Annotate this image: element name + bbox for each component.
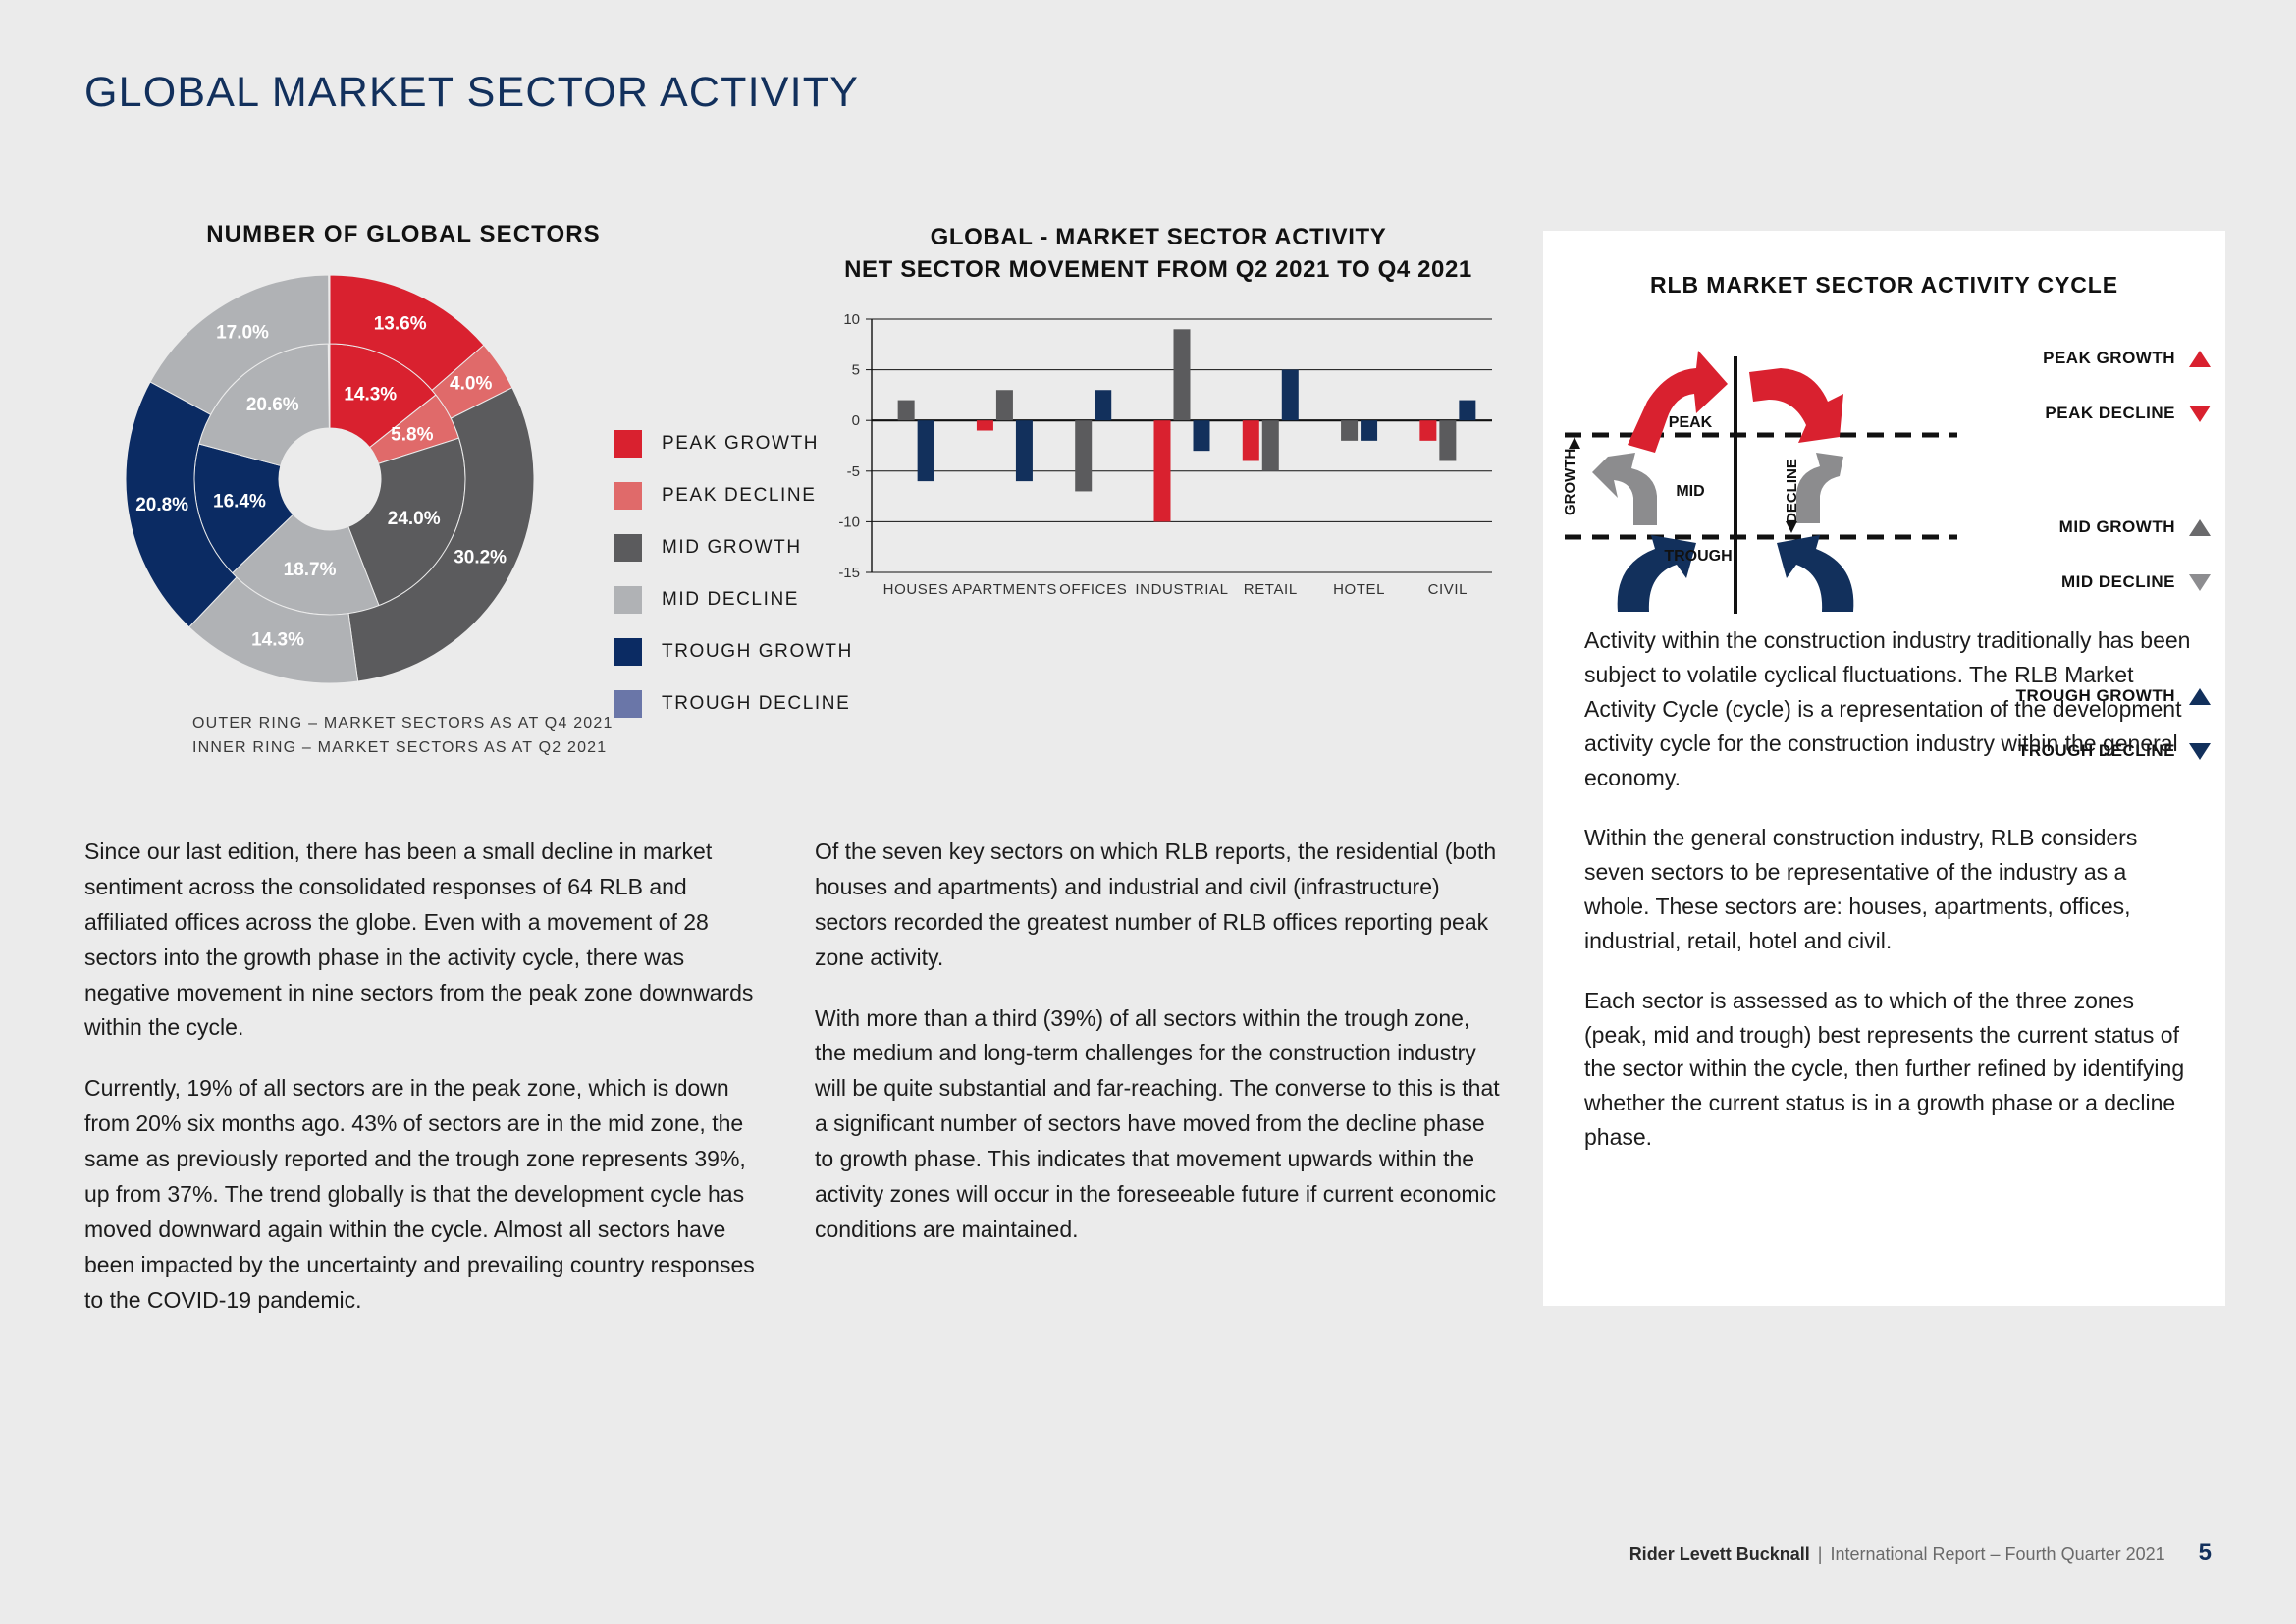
- cycle-legend-label-mid-growth: MID GROWTH: [2059, 517, 2175, 537]
- page-footer: Rider Levett Bucknall | International Re…: [1629, 1540, 2212, 1567]
- column1-paragraph-1: Since our last edition, there has been a…: [84, 835, 772, 1046]
- legend-item-trough-decline: TROUGH DECLINE: [614, 677, 853, 730]
- footer-page-number: 5: [2199, 1540, 2212, 1567]
- trough-decline-arrow-icon: [1777, 535, 1853, 612]
- bar: [898, 401, 915, 421]
- donut-slice-value-label: 16.4%: [213, 492, 266, 513]
- cycle-legend-label-mid-decline: MID DECLINE: [2061, 572, 2175, 592]
- bar-category-label: HOUSES: [883, 581, 949, 598]
- donut-caption-inner: INNER RING – MARKET SECTORS AS AT Q2 202…: [192, 736, 614, 761]
- legend-label-peak-decline: PEAK DECLINE: [662, 485, 817, 507]
- market-sector-activity-cycle-card: RLB MARKET SECTOR ACTIVITY CYCLE PEAK MI…: [1543, 231, 2225, 1306]
- legend-label-trough-decline: TROUGH DECLINE: [662, 693, 850, 715]
- legend-label-mid-decline: MID DECLINE: [662, 589, 799, 611]
- report-page: GLOBAL MARKET SECTOR ACTIVITY NUMBER OF …: [0, 0, 2296, 1624]
- bar-chart-title-line2: NET SECTOR MOVEMENT FROM Q2 2021 TO Q4 2…: [815, 253, 1502, 286]
- bar-category-label: CIVIL: [1428, 581, 1468, 598]
- cycle-legend-peak-decline: PEAK DECLINE: [1916, 404, 2211, 423]
- donut-slice-value-label: 4.0%: [450, 374, 492, 395]
- bar-category-label: HOTEL: [1333, 581, 1385, 598]
- bar-y-tick-label: -10: [838, 514, 860, 530]
- bar: [1095, 390, 1111, 420]
- cycle-legend-label-peak-decline: PEAK DECLINE: [2045, 404, 2175, 423]
- bar-category-label: APARTMENTS: [952, 581, 1057, 598]
- legend-swatch-mid-decline: [614, 586, 642, 614]
- bar: [1194, 420, 1210, 451]
- bar: [996, 390, 1013, 420]
- trough-growth-arrow-icon: [1618, 535, 1696, 612]
- mid-growth-triangle-up-icon: [2189, 519, 2211, 536]
- growth-arrow-icon: [1569, 437, 1580, 449]
- bar: [1459, 401, 1475, 421]
- donut-slice-value-label: 13.6%: [374, 314, 427, 335]
- bar-chart-title-line1: GLOBAL - MARKET SECTOR ACTIVITY: [815, 221, 1502, 253]
- donut-slice-value-label: 20.8%: [135, 495, 188, 515]
- bar-chart-panel: GLOBAL - MARKET SECTOR ACTIVITY NET SECT…: [815, 221, 1502, 673]
- legend-swatch-trough-growth: [614, 638, 642, 666]
- cycle-diagram-title: RLB MARKET SECTOR ACTIVITY CYCLE: [1543, 272, 2225, 298]
- cycle-paragraph-3: Each sector is assessed as to which of t…: [1584, 984, 2193, 1156]
- zone-label-trough: TROUGH: [1664, 548, 1732, 565]
- column1-paragraph-2: Currently, 19% of all sectors are in the…: [84, 1071, 772, 1318]
- bar-category-label: OFFICES: [1059, 581, 1127, 598]
- mid-decline-arrow-icon: [1796, 453, 1843, 523]
- peak-decline-triangle-down-icon: [2189, 406, 2211, 422]
- mid-decline-triangle-down-icon: [2189, 574, 2211, 591]
- donut-slice-value-label: 14.3%: [344, 384, 397, 405]
- bar: [1154, 420, 1171, 521]
- legend-swatch-trough-decline: [614, 690, 642, 718]
- donut-slice-value-label: 30.2%: [454, 547, 507, 568]
- axis-label-growth: GROWTH: [1562, 449, 1578, 515]
- donut-slice-value-label: 17.0%: [216, 323, 269, 344]
- bar-chart-title: GLOBAL - MARKET SECTOR ACTIVITY NET SECT…: [815, 221, 1502, 286]
- cycle-legend-label-peak-growth: PEAK GROWTH: [2043, 349, 2175, 368]
- donut-slice-value-label: 24.0%: [388, 509, 441, 529]
- peak-growth-triangle-up-icon: [2189, 351, 2211, 367]
- bar-y-tick-label: 0: [852, 412, 860, 429]
- donut-slice-value-label: 5.8%: [391, 424, 433, 445]
- bar-y-tick-label: -5: [847, 463, 860, 480]
- bar: [1075, 420, 1092, 491]
- donut-caption: OUTER RING – MARKET SECTORS AS AT Q4 202…: [192, 712, 614, 761]
- column2-paragraph-2: With more than a third (39%) of all sect…: [815, 1001, 1502, 1248]
- footer-report-title: International Report – Fourth Quarter 20…: [1830, 1544, 2164, 1565]
- column2-paragraph-1: Of the seven key sectors on which RLB re…: [815, 835, 1502, 976]
- bar: [1174, 329, 1191, 420]
- peak-decline-arrow-icon: [1749, 368, 1843, 443]
- donut-caption-outer: OUTER RING – MARKET SECTORS AS AT Q4 202…: [192, 712, 614, 736]
- donut-chart-panel: NUMBER OF GLOBAL SECTORS 14.3%5.8%24.0%1…: [84, 221, 791, 771]
- bar: [1341, 420, 1358, 441]
- donut-center-hole: [281, 430, 379, 528]
- bar-y-tick-label: 5: [852, 362, 860, 379]
- legend-swatch-mid-growth: [614, 534, 642, 562]
- decline-arrow-icon: [1786, 521, 1797, 533]
- donut-slice-value-label: 20.6%: [246, 395, 299, 415]
- zone-label-mid: MID: [1676, 483, 1704, 500]
- bar: [1016, 420, 1033, 481]
- donut-chart-title: NUMBER OF GLOBAL SECTORS: [84, 221, 722, 248]
- cycle-paragraph-1: Activity within the construction industr…: [1584, 623, 2193, 795]
- bar: [977, 420, 993, 430]
- bar-category-label: INDUSTRIAL: [1135, 581, 1228, 598]
- cycle-paragraph-2: Within the general construction industry…: [1584, 821, 2193, 958]
- body-column-2: Of the seven key sectors on which RLB re…: [815, 835, 1502, 1273]
- bar: [1361, 420, 1377, 441]
- cycle-legend-mid-decline: MID DECLINE: [1916, 572, 2211, 592]
- mid-growth-arrow-icon: [1592, 453, 1657, 525]
- page-title: GLOBAL MARKET SECTOR ACTIVITY: [84, 69, 859, 117]
- net-sector-movement-bar-chart: 1050-5-10-15 HOUSESAPARTMENTSOFFICESINDU…: [815, 309, 1502, 623]
- bar: [1243, 420, 1259, 460]
- legend-label-mid-growth: MID GROWTH: [662, 537, 802, 559]
- bar: [1282, 370, 1299, 421]
- legend-swatch-peak-growth: [614, 430, 642, 458]
- footer-separator: |: [1818, 1544, 1823, 1565]
- cycle-legend-mid-growth: MID GROWTH: [1916, 517, 2211, 537]
- bar-category-label: RETAIL: [1244, 581, 1298, 598]
- axis-label-decline: DECLINE: [1784, 459, 1800, 523]
- bar: [1419, 420, 1436, 441]
- cycle-body-text: Activity within the construction industr…: [1584, 623, 2193, 1180]
- bar-y-tick-label: 10: [843, 311, 860, 328]
- legend-swatch-peak-decline: [614, 482, 642, 510]
- activity-cycle-diagram: PEAK MID TROUGH GROWTH DECLINE: [1553, 329, 1965, 623]
- donut-slice-value-label: 18.7%: [284, 560, 337, 580]
- body-column-1: Since our last edition, there has been a…: [84, 835, 772, 1343]
- global-sectors-donut-chart: 14.3%5.8%24.0%18.7%16.4%20.6%13.6%4.0%30…: [104, 268, 614, 690]
- bar: [1439, 420, 1456, 460]
- zone-label-peak: PEAK: [1669, 414, 1713, 431]
- bar-y-tick-label: -15: [838, 565, 860, 581]
- bar: [918, 420, 934, 481]
- legend-label-peak-growth: PEAK GROWTH: [662, 433, 819, 455]
- bar: [1262, 420, 1279, 471]
- footer-brand: Rider Levett Bucknall: [1629, 1544, 1810, 1565]
- donut-slice-value-label: 14.3%: [251, 630, 304, 651]
- cycle-legend-peak-growth: PEAK GROWTH: [1916, 349, 2211, 368]
